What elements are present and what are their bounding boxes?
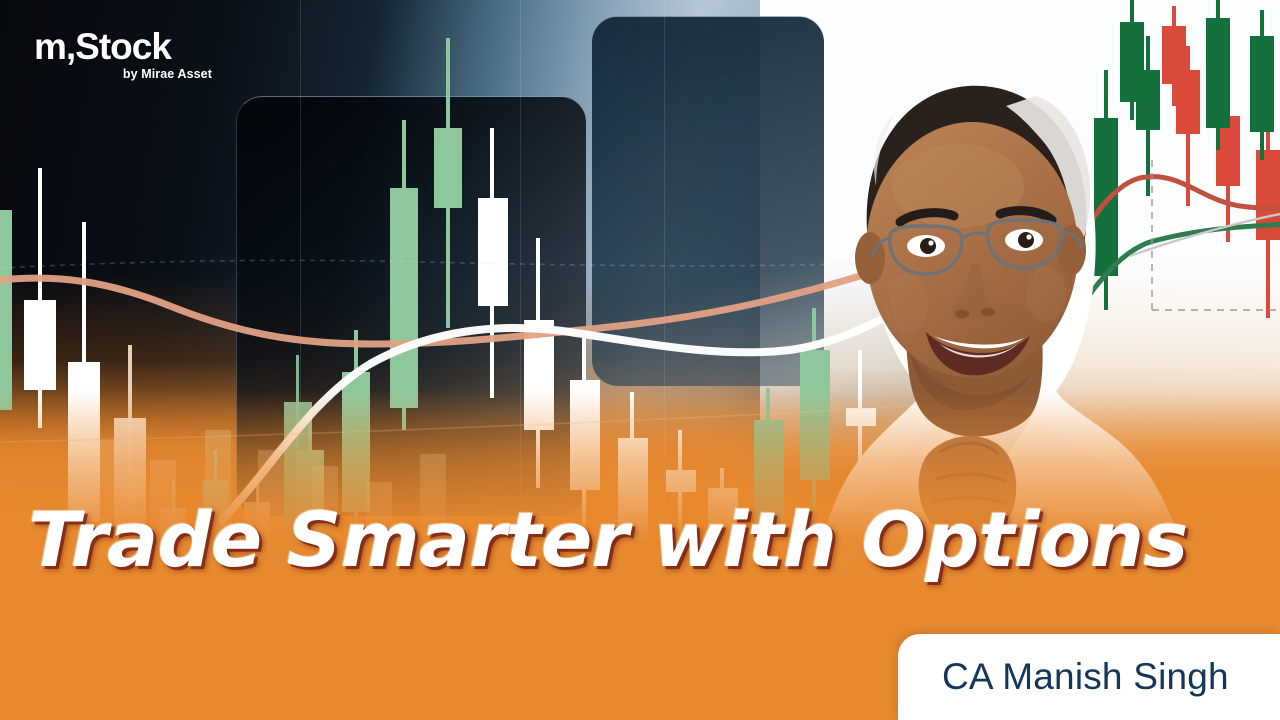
- brand-logo-subtext: by Mirae Asset: [34, 67, 214, 81]
- brand-logo: m,Stock by Mirae Asset: [34, 28, 214, 81]
- brand-logo-text: m,Stock: [34, 28, 214, 65]
- speaker-name-banner: CA Manish Singh: [898, 634, 1280, 720]
- video-thumbnail: m,Stock by Mirae Asset Trade Smarter wit…: [0, 0, 1280, 720]
- headline-title: Trade Smarter with Options: [28, 495, 1268, 584]
- speaker-name: CA Manish Singh: [942, 656, 1229, 698]
